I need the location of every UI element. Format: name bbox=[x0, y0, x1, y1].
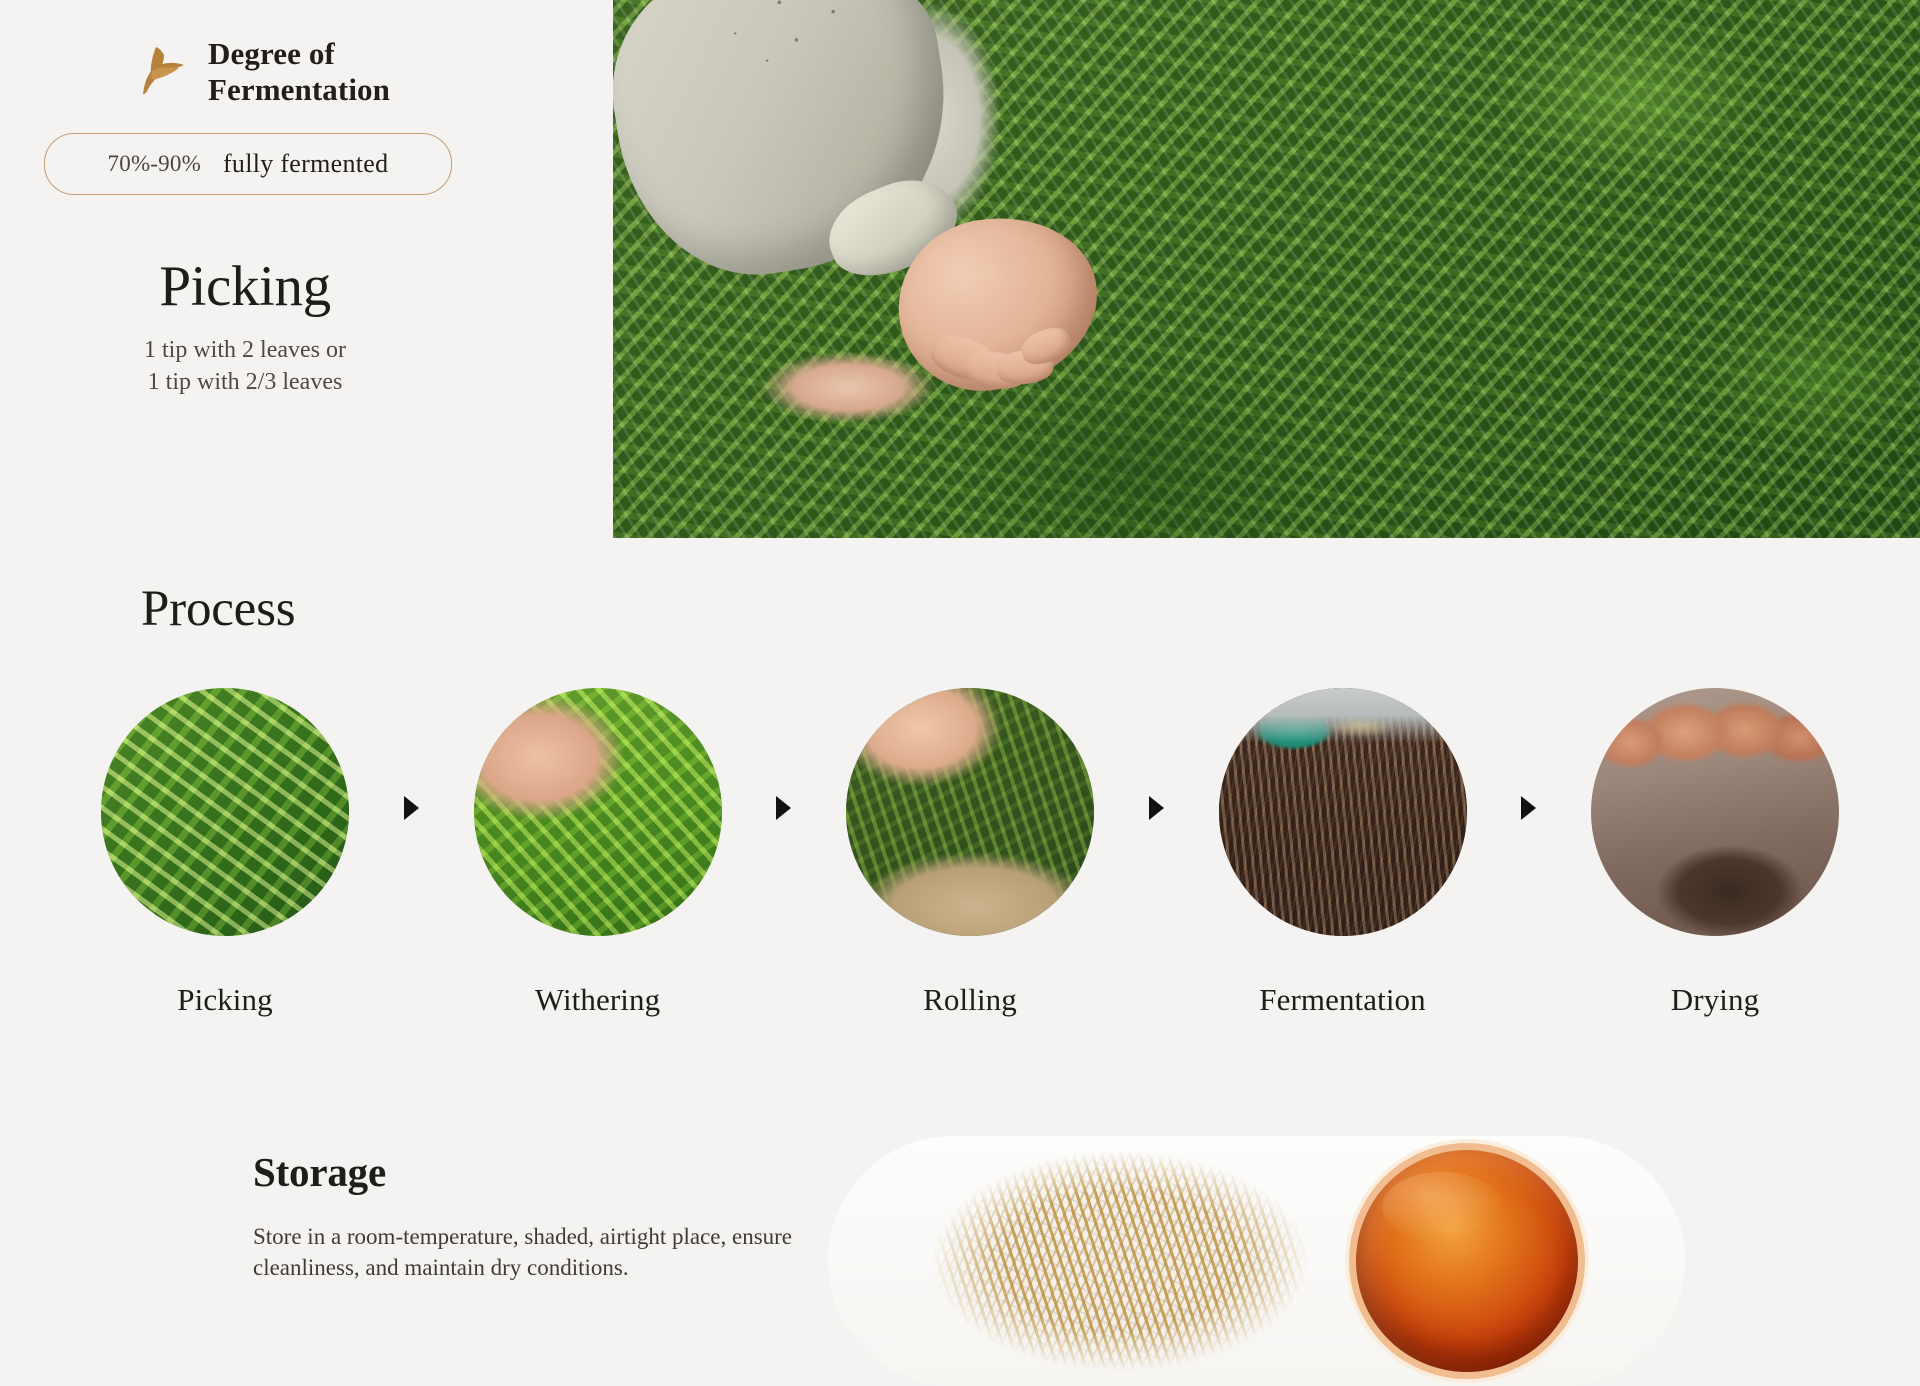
triangle-right-icon bbox=[1516, 796, 1542, 820]
triangle-right-icon bbox=[1143, 796, 1169, 820]
process-steps-row: Picking Withering Rolling Fermentation D… bbox=[100, 688, 1840, 1018]
process-heading: Process bbox=[141, 580, 295, 638]
process-step-label: Rolling bbox=[923, 982, 1017, 1018]
picking-heading: Picking bbox=[0, 258, 490, 315]
process-step-image-withering bbox=[474, 688, 722, 936]
sleeve-embroidery bbox=[690, 0, 886, 91]
fermentation-percentage: 70%-90% bbox=[108, 151, 201, 177]
picking-description: 1 tip with 2 leaves or 1 tip with 2/3 le… bbox=[0, 335, 490, 398]
process-step-image-rolling bbox=[846, 688, 1094, 936]
process-step-withering[interactable]: Withering bbox=[473, 688, 723, 1018]
hero-image bbox=[613, 0, 1920, 538]
process-step-fermentation[interactable]: Fermentation bbox=[1218, 688, 1468, 1018]
dried-tea-leaves bbox=[920, 1136, 1320, 1386]
storage-section: Storage Store in a room-temperature, sha… bbox=[253, 1148, 813, 1283]
brewed-tea-cup bbox=[1356, 1150, 1578, 1372]
storage-heading: Storage bbox=[253, 1148, 813, 1196]
brand-title: Degree of Fermentation bbox=[208, 36, 390, 109]
process-step-label: Drying bbox=[1671, 982, 1759, 1018]
process-step-image-drying bbox=[1591, 688, 1839, 936]
fermentation-badge: 70%-90% fully fermented bbox=[44, 133, 452, 195]
triangle-right-icon bbox=[771, 796, 797, 820]
storage-description: Store in a room-temperature, shaded, air… bbox=[253, 1222, 798, 1283]
triangle-right-icon bbox=[398, 796, 424, 820]
process-step-picking[interactable]: Picking bbox=[100, 688, 350, 1018]
tea-leaf-icon bbox=[126, 39, 188, 106]
process-step-label: Fermentation bbox=[1259, 982, 1426, 1018]
process-step-image-picking bbox=[101, 688, 349, 936]
fermentation-level: fully fermented bbox=[223, 149, 389, 179]
process-step-rolling[interactable]: Rolling bbox=[845, 688, 1095, 1018]
process-step-label: Withering bbox=[535, 982, 660, 1018]
picking-section: Picking 1 tip with 2 leaves or 1 tip wit… bbox=[0, 258, 490, 398]
process-step-image-fermentation bbox=[1219, 688, 1467, 936]
process-step-label: Picking bbox=[177, 982, 272, 1018]
process-step-drying[interactable]: Drying bbox=[1590, 688, 1840, 1018]
storage-image bbox=[828, 1136, 1685, 1386]
brand-header: Degree of Fermentation bbox=[126, 36, 390, 109]
